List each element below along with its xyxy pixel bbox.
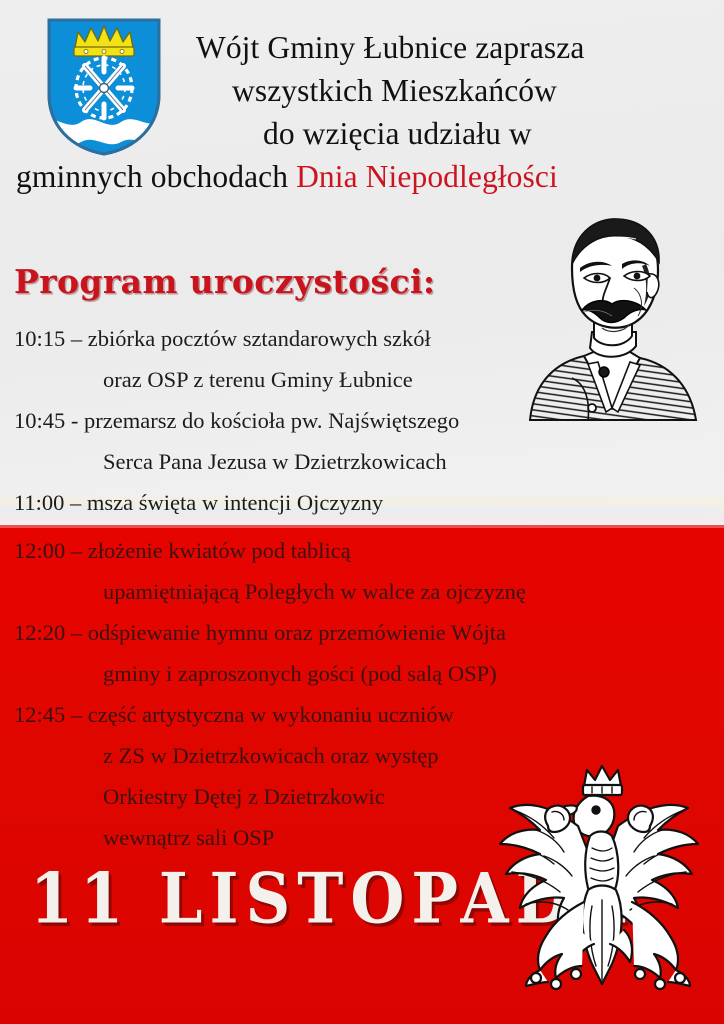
header-line-4: gminnych obchodach Dnia Niepodległości <box>0 155 724 198</box>
schedule-item-1220: 12:20 – odśpiewanie hymnu oraz przemówie… <box>0 612 724 694</box>
schedule-line: 12:20 – odśpiewanie hymnu oraz przemówie… <box>0 612 724 653</box>
schedule-line-continuation: upamiętniającą Poległych w walce za ojcz… <box>0 571 724 612</box>
polish-white-eagle-icon <box>492 752 724 1000</box>
eagle-crown <box>583 766 622 795</box>
invitation-header: Wójt Gminy Łubnice zaprasza wszystkich M… <box>0 26 724 198</box>
header-line-4-plain: gminnych obchodach <box>16 159 296 194</box>
header-line-3: do wzięcia udziału w <box>0 112 724 155</box>
independence-day-poster: Wójt Gminy Łubnice zaprasza wszystkich M… <box>0 0 724 1024</box>
schedule-item-1200: 12:00 – złożenie kwiatów pod tablicą upa… <box>0 530 724 612</box>
schedule-white-section: 10:15 – zbiórka pocztów sztandarowych sz… <box>0 318 724 523</box>
schedule-item-1100: 11:00 – msza święta w intencji Ojczyzny <box>0 482 724 523</box>
schedule-item-1015: 10:15 – zbiórka pocztów sztandarowych sz… <box>0 318 724 400</box>
header-line-4-accent: Dnia Niepodległości <box>296 159 558 194</box>
schedule-line: 10:45 - przemarsz do kościoła pw. Najświ… <box>0 400 724 441</box>
header-line-2: wszystkich Mieszkańców <box>0 69 724 112</box>
schedule-line-continuation: Serca Pana Jezusa w Dzietrzkowicach <box>0 441 724 482</box>
schedule-line: 12:00 – złożenie kwiatów pod tablicą <box>0 530 724 571</box>
schedule-line-continuation: gminy i zaproszonych gości (pod salą OSP… <box>0 653 724 694</box>
schedule-line: 11:00 – msza święta w intencji Ojczyzny <box>0 482 724 523</box>
program-heading: Program uroczystości: <box>14 262 435 302</box>
schedule-item-1045: 10:45 - przemarsz do kościoła pw. Najświ… <box>0 400 724 482</box>
schedule-line: 12:45 – część artystyczna w wykonaniu uc… <box>0 694 724 735</box>
schedule-line: 10:15 – zbiórka pocztów sztandarowych sz… <box>0 318 724 359</box>
schedule-line-continuation: oraz OSP z terenu Gminy Łubnice <box>0 359 724 400</box>
header-line-1: Wójt Gminy Łubnice zaprasza <box>0 26 724 69</box>
